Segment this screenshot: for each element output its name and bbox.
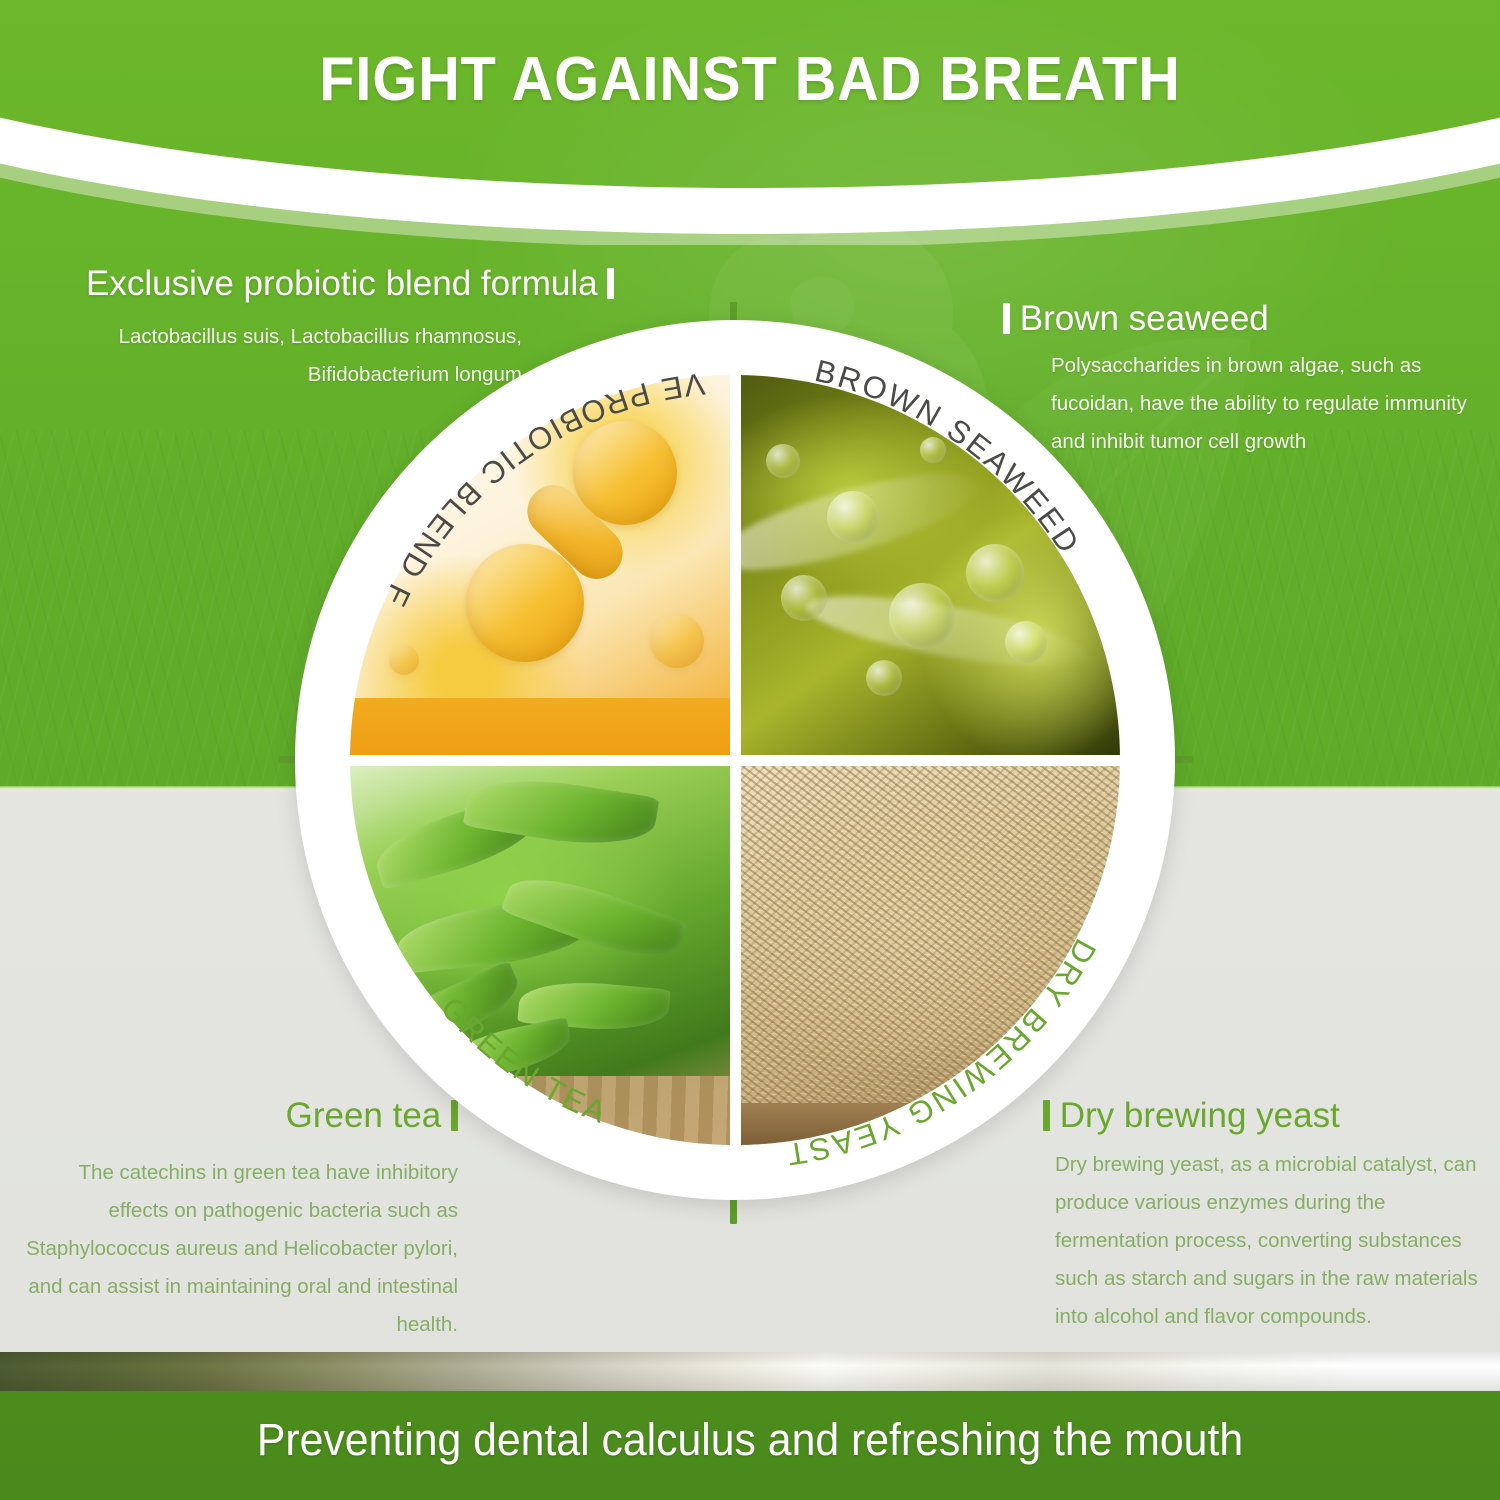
quadrant-divider-horizontal	[350, 755, 1120, 766]
section-probiotic-title: Exclusive probiotic blend formula	[86, 262, 522, 306]
header-curve-divider	[0, 95, 1500, 245]
quadrant-probiotic-image	[350, 375, 735, 760]
section-probiotic-title-text: Exclusive probiotic blend formula	[86, 264, 598, 303]
quadrant-seaweed-image	[735, 375, 1120, 760]
footer-tagline: Preventing dental calculus and refreshin…	[38, 1414, 1463, 1466]
metallic-divider-shading	[0, 1352, 1500, 1392]
ingredient-wheel: EXCLUSIVE PROBIOTIC BLEND FORMULA BROWN …	[295, 320, 1175, 1200]
infographic-canvas: FIGHT AGAINST BAD BREATH Preventing dent…	[0, 0, 1500, 1500]
quadrant-yeast-image	[735, 760, 1120, 1145]
wheel-photo-area	[350, 375, 1120, 1145]
quadrant-greentea-image	[350, 760, 735, 1145]
page-title: FIGHT AGAINST BAD BREATH	[53, 44, 1448, 115]
accent-bar-icon	[607, 268, 614, 299]
